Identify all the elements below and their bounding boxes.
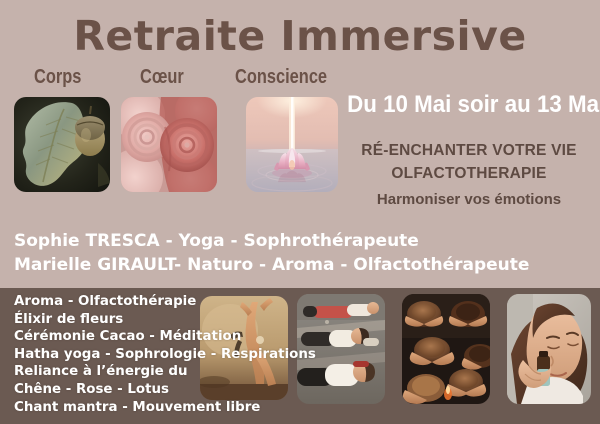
tagline-secondary: OLFACTOTHERAPIE: [338, 165, 600, 183]
essential-oil-art: [507, 294, 591, 404]
presenter-line-1: Sophie TRESCA - Yoga - Sophrothérapeute: [14, 231, 419, 251]
pillar-label-corps: Corps: [34, 66, 81, 89]
program-item: Élixir de fleurs: [14, 311, 294, 329]
oak-leaf-acorn-image: [14, 97, 110, 192]
page-title: Retraite Immersive: [0, 12, 600, 60]
program-item: Chant mantra - Mouvement libre: [14, 399, 294, 417]
pillar-label-coeur: Cœur: [140, 66, 184, 89]
cacao-ceremony-image: [402, 294, 490, 404]
pillar-label-conscience: Conscience: [235, 66, 327, 89]
program-item: Chêne - Rose - Lotus: [14, 381, 294, 399]
essential-oil-image: [507, 294, 591, 404]
roses-image: [121, 97, 217, 192]
program-list: Aroma - Olfactothérapie Élixir de fleurs…: [14, 293, 294, 416]
roses-art: [121, 97, 217, 192]
program-item: Reliance à l’énergie du: [14, 363, 294, 381]
oak-leaf-acorn-art: [14, 97, 110, 192]
retreat-dates: Du 10 Mai soir au 13 Mai: [347, 91, 591, 119]
poster-bottom-section: Aroma - Olfactothérapie Élixir de fleurs…: [0, 288, 600, 424]
presenter-line-2: Marielle GIRAULT- Naturo - Aroma - Olfac…: [14, 255, 529, 275]
program-item: Aroma - Olfactothérapie: [14, 293, 294, 311]
tagline-primary: RÉ-ENCHANTER VOTRE VIE: [338, 142, 600, 160]
tagline-tertiary: Harmoniser vos émotions: [338, 191, 600, 208]
program-item: Cérémonie Cacao - Méditation: [14, 328, 294, 346]
lotus-water-image: [246, 97, 338, 192]
poster-top-section: Retraite Immersive Corps Cœur Conscience: [0, 0, 600, 288]
program-item: Hatha yoga - Sophrologie - Respirations: [14, 346, 294, 364]
cacao-ceremony-art: [402, 294, 490, 404]
lotus-water-art: [246, 97, 338, 192]
retreat-poster: Retraite Immersive Corps Cœur Conscience: [0, 0, 600, 424]
